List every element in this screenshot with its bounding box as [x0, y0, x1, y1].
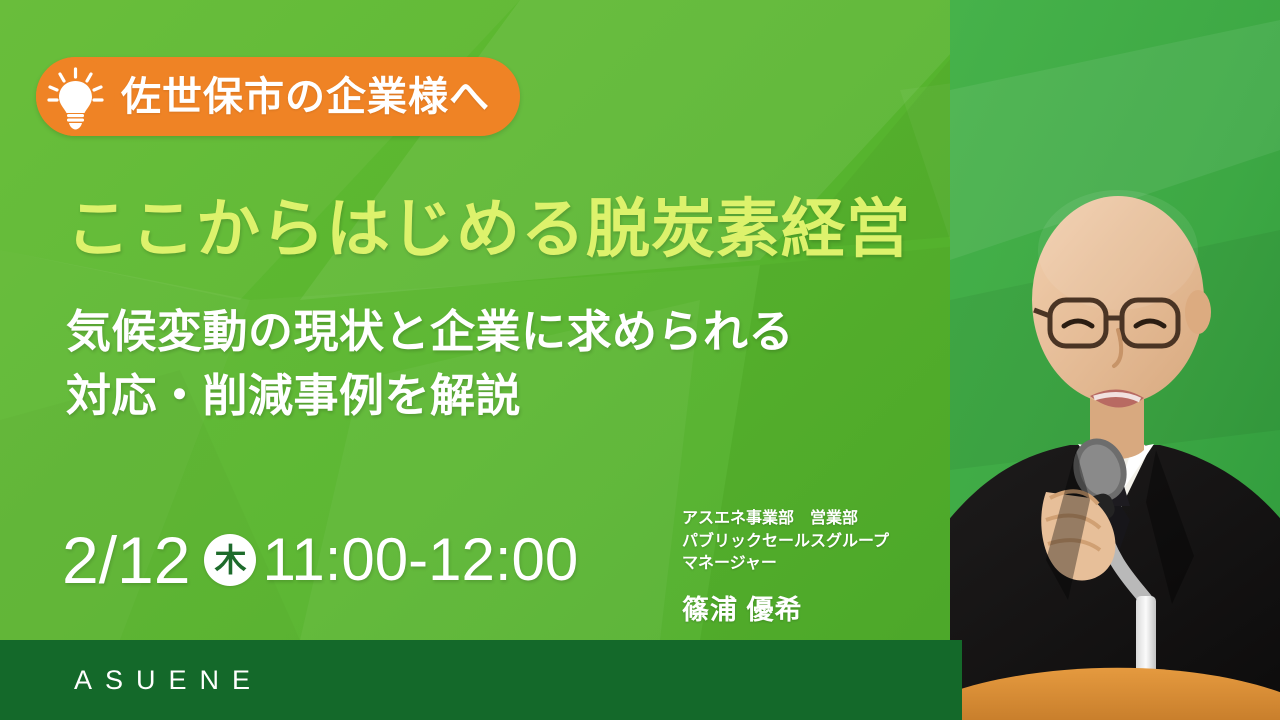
weekday-badge: 木	[204, 534, 256, 586]
webinar-banner: 佐世保市の企業様へ ここからはじめる脱炭素経営 気候変動の現状と企業に求められる…	[0, 0, 1280, 720]
audience-badge: 佐世保市の企業様へ	[36, 57, 520, 136]
subtitle: 気候変動の現状と企業に求められる 対応・削減事例を解説	[66, 300, 794, 428]
speaker-role-line-1: アスエネ事業部 営業部	[682, 508, 889, 531]
audience-badge-label: 佐世保市の企業様へ	[115, 77, 490, 117]
speaker-role-line-2: パブリックセールスグループ	[682, 531, 889, 554]
page-title: ここからはじめる脱炭素経営	[66, 196, 911, 263]
speaker-name: 篠浦 優希	[682, 588, 889, 627]
speaker-info: アスエネ事業部 営業部 パブリックセールスグループ マネージャー 篠浦 優希	[682, 508, 889, 627]
lightbulb-icon	[36, 57, 115, 136]
speaker-photo	[950, 0, 1280, 720]
asuene-logo: ASUENE	[74, 667, 263, 694]
schedule: 2/12 木 11:00-12:00	[62, 527, 578, 593]
footer-bar: ASUENE	[0, 640, 962, 720]
subtitle-line-1: 気候変動の現状と企業に求められる	[66, 300, 794, 364]
event-time: 11:00-12:00	[262, 530, 578, 590]
speaker-role-line-3: マネージャー	[682, 553, 889, 576]
event-date: 2/12	[62, 527, 190, 593]
subtitle-line-2: 対応・削減事例を解説	[66, 364, 794, 428]
